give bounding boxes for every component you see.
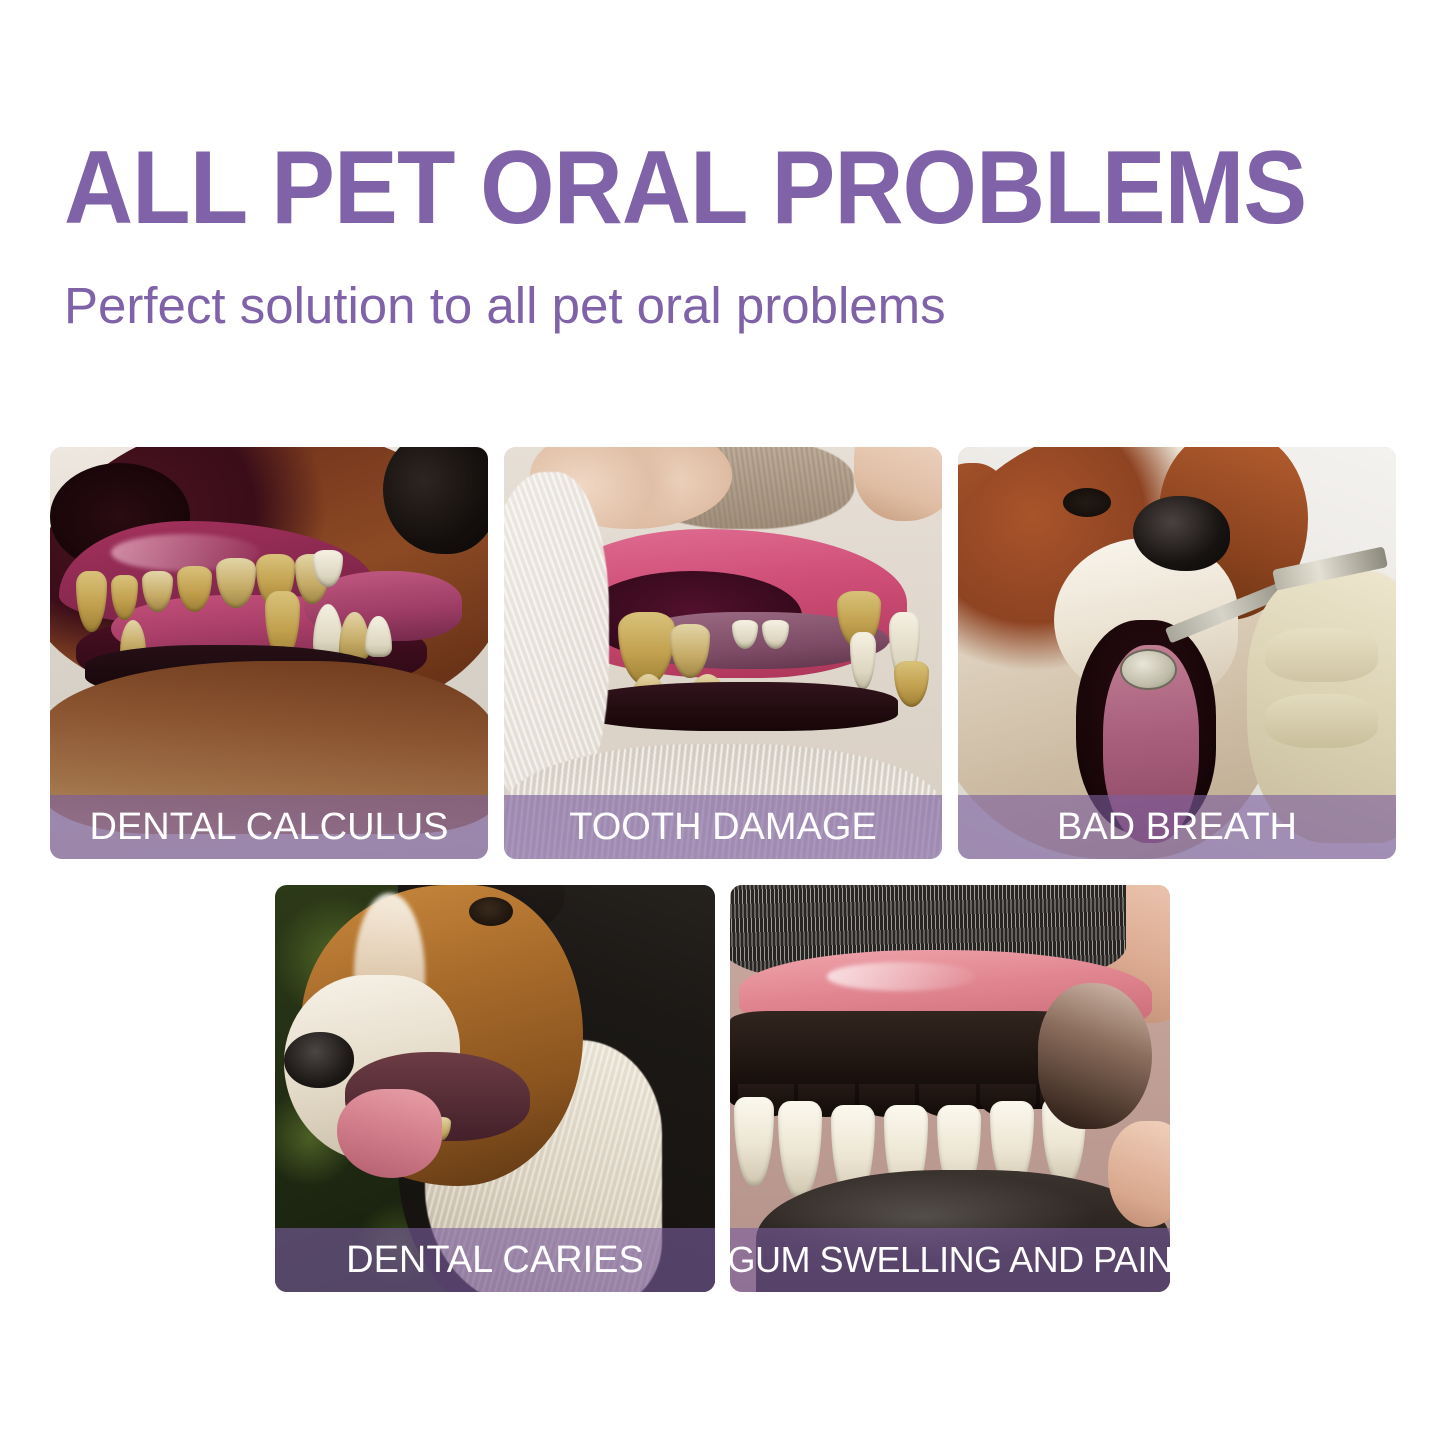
card-label-band: BAD BREATH <box>958 795 1396 859</box>
problem-card-gum-swelling[interactable]: GUM SWELLING AND PAIN <box>730 885 1170 1292</box>
problem-card-dental-calculus[interactable]: DENTAL CALCULUS <box>50 447 488 859</box>
card-label-band: DENTAL CARIES <box>275 1228 715 1292</box>
card-label-band: GUM SWELLING AND PAIN <box>730 1228 1170 1292</box>
card-label-band: TOOTH DAMAGE <box>504 795 942 859</box>
problem-gallery-row-2: DENTAL CARIES <box>275 885 1170 1292</box>
problem-gallery-row-1: DENTAL CALCULUS <box>50 447 1396 859</box>
card-label-text: DENTAL CARIES <box>346 1241 644 1279</box>
page-title: ALL PET ORAL PROBLEMS <box>64 136 1278 240</box>
card-label-text: TOOTH DAMAGE <box>569 808 877 846</box>
problem-card-bad-breath[interactable]: BAD BREATH <box>958 447 1396 859</box>
header: ALL PET ORAL PROBLEMS Perfect solution t… <box>64 136 1384 331</box>
card-label-text: BAD BREATH <box>1057 808 1297 846</box>
problem-card-dental-caries[interactable]: DENTAL CARIES <box>275 885 715 1292</box>
card-label-text: DENTAL CALCULUS <box>90 808 449 846</box>
page-subtitle: Perfect solution to all pet oral problem… <box>64 240 1384 331</box>
card-label-text: GUM SWELLING AND PAIN <box>730 1242 1170 1278</box>
card-label-band: DENTAL CALCULUS <box>50 795 488 859</box>
problem-card-tooth-damage[interactable]: TOOTH DAMAGE <box>504 447 942 859</box>
